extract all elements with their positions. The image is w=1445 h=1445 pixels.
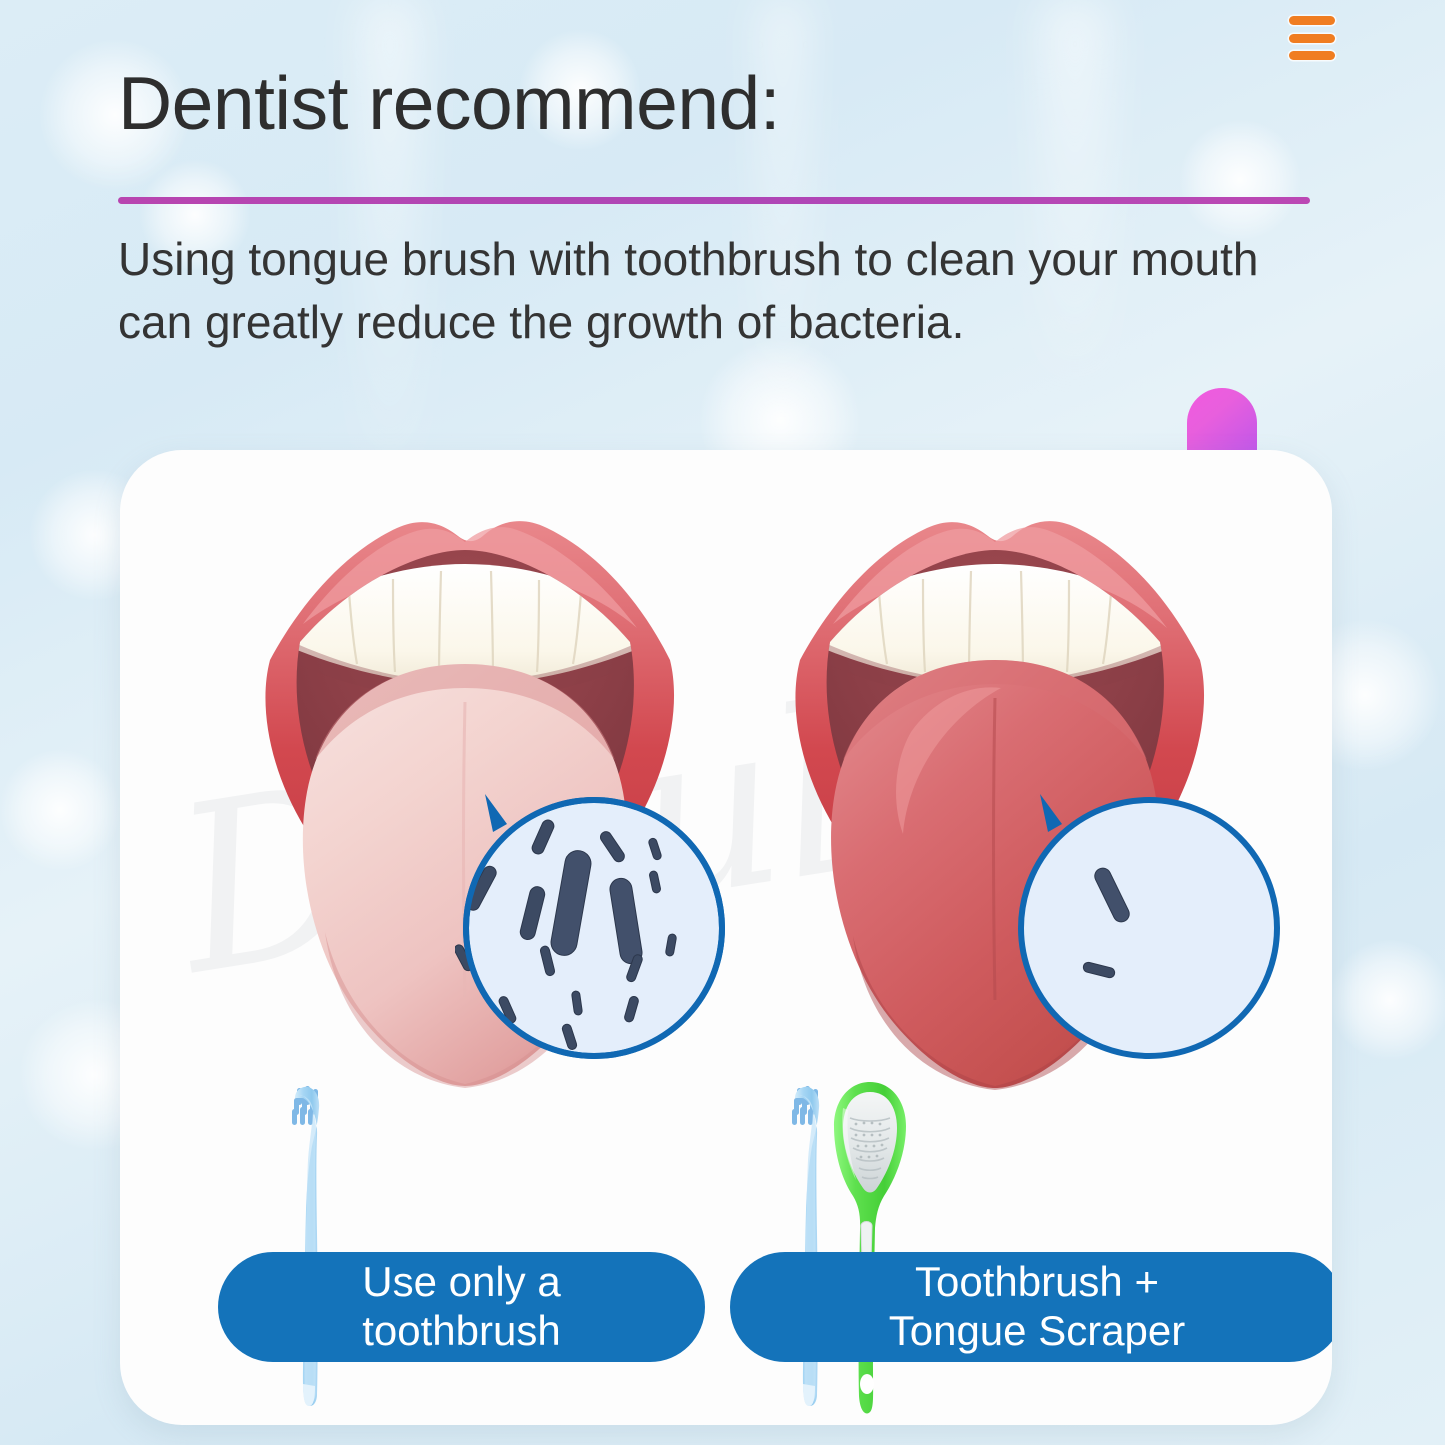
hamburger-bar	[1289, 34, 1335, 43]
bokeh-blob	[0, 750, 120, 870]
hamburger-bar	[1289, 16, 1335, 25]
bacteria-magnifier-few	[1010, 786, 1288, 1064]
hamburger-menu-icon[interactable]	[1289, 16, 1335, 60]
label-use-only-toothbrush[interactable]: Use only a toothbrush	[218, 1252, 705, 1362]
toothbrush-left	[275, 1084, 337, 1414]
label-text-left: Use only a toothbrush	[362, 1258, 560, 1355]
promo-infographic-page: Dentist recommend: Using tongue brush wi…	[0, 0, 1445, 1445]
page-title: Dentist recommend:	[118, 66, 1318, 141]
hamburger-bar	[1289, 51, 1335, 60]
page-subtitle: Using tongue brush with toothbrush to cl…	[118, 228, 1308, 355]
label-text-right: Toothbrush + Tongue Scraper	[889, 1258, 1186, 1355]
bokeh-blob	[1330, 940, 1445, 1060]
bacteria-magnifier-many	[455, 786, 733, 1064]
label-toothbrush-plus-scraper[interactable]: Toothbrush + Tongue Scraper	[730, 1252, 1332, 1362]
tongue-scraper	[828, 1078, 912, 1423]
comparison-card: Deaulyfa	[120, 450, 1332, 1425]
title-divider	[118, 197, 1310, 204]
